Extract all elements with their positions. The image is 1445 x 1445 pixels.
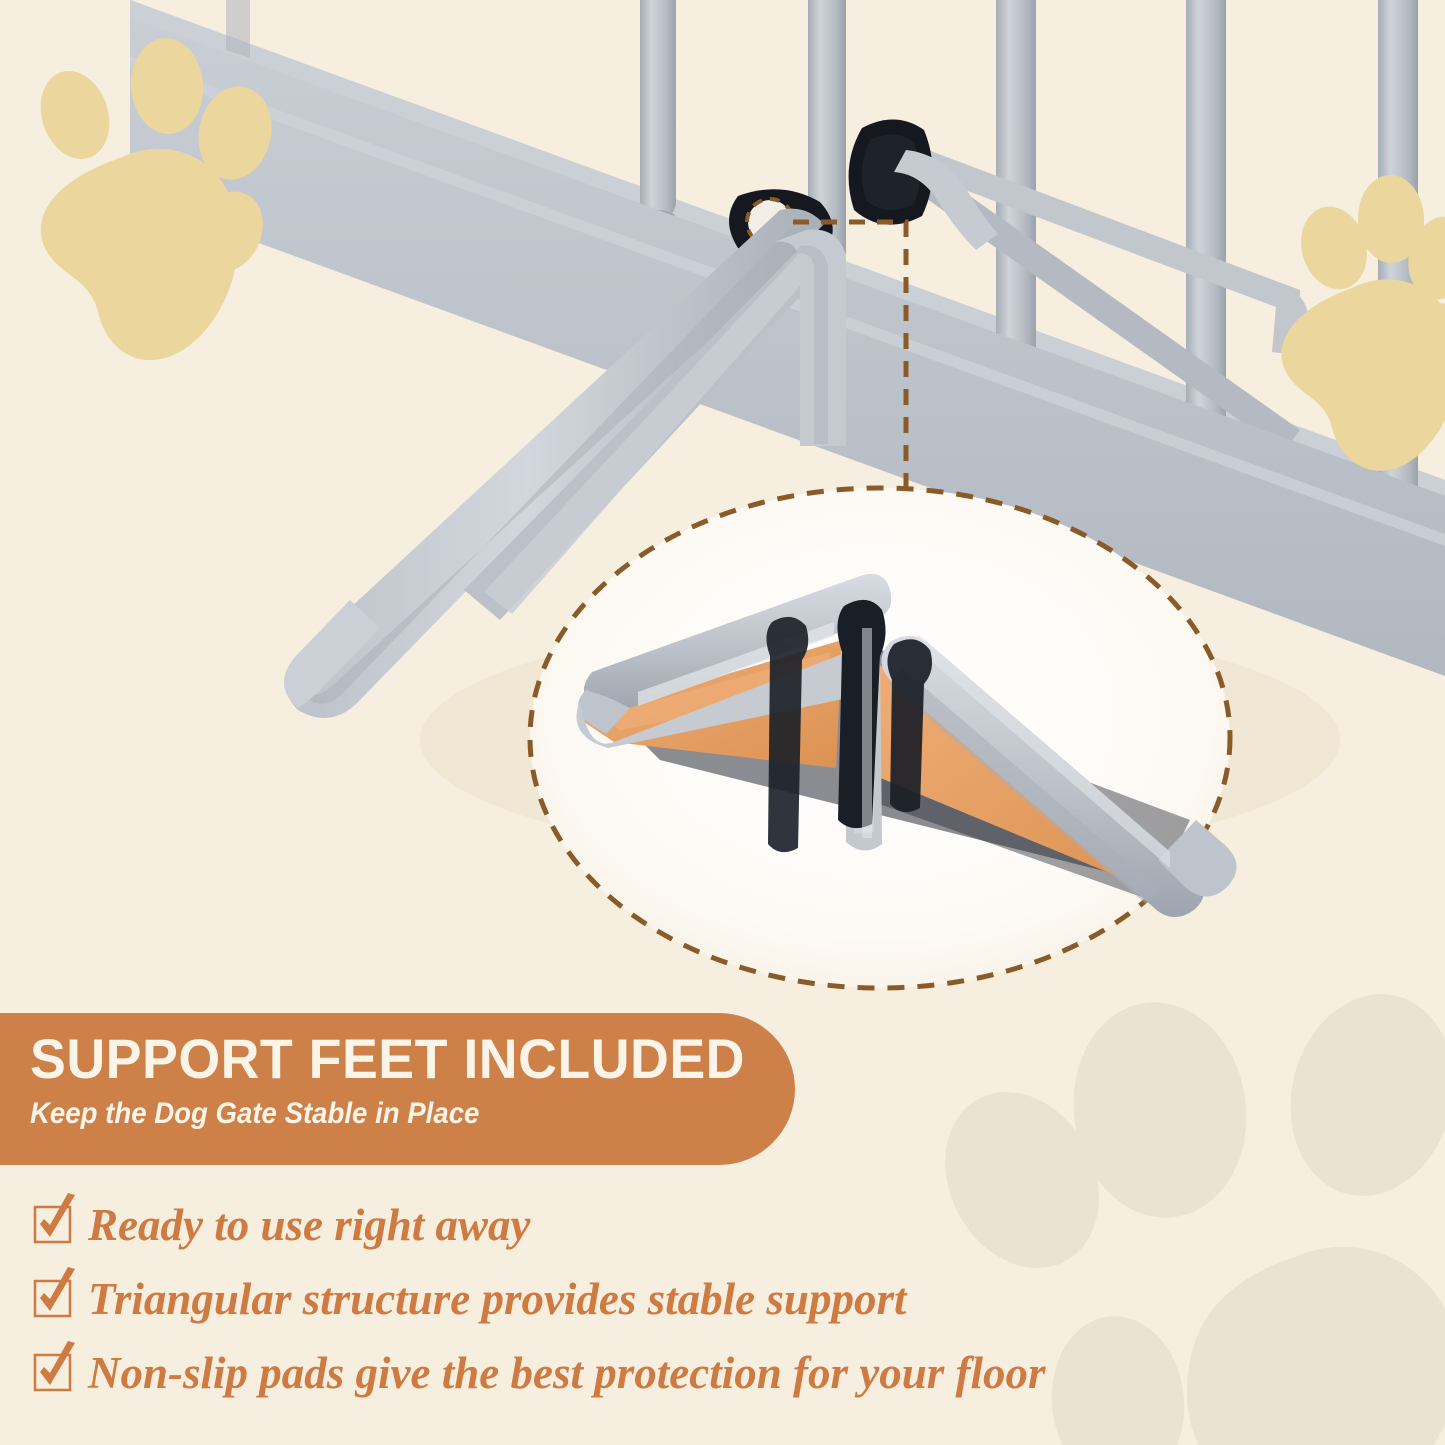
checkbox-checked-icon bbox=[34, 1277, 74, 1317]
bullet-item: Ready to use right away bbox=[34, 1188, 1394, 1262]
bullet-text: Ready to use right away bbox=[88, 1200, 531, 1250]
bullet-item: Triangular structure provides stable sup… bbox=[34, 1262, 1394, 1336]
bullet-text: Triangular structure provides stable sup… bbox=[88, 1274, 906, 1324]
feature-bullet-list: Ready to use right away Triangular struc… bbox=[34, 1188, 1394, 1410]
product-marketing-image: SUPPORT FEET INCLUDED Keep the Dog Gate … bbox=[0, 0, 1445, 1445]
feature-banner: SUPPORT FEET INCLUDED Keep the Dog Gate … bbox=[0, 1013, 795, 1165]
banner-subtitle: Keep the Dog Gate Stable in Place bbox=[30, 1095, 734, 1133]
banner-title: SUPPORT FEET INCLUDED bbox=[30, 1027, 764, 1091]
checkbox-checked-icon bbox=[34, 1203, 74, 1243]
checkbox-checked-icon bbox=[34, 1351, 74, 1391]
bullet-item: Non-slip pads give the best protection f… bbox=[34, 1336, 1394, 1410]
bullet-text: Non-slip pads give the best protection f… bbox=[88, 1348, 1045, 1398]
